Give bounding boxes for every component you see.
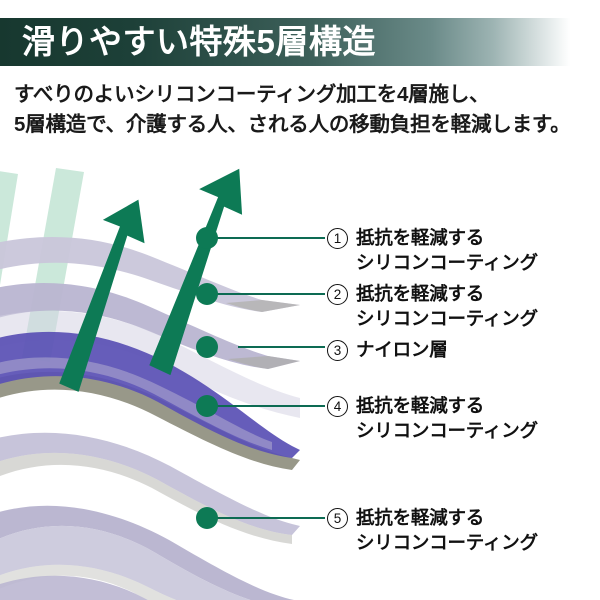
legend-label-2: 抵抗を軽減する シリコンコーティング (356, 281, 538, 331)
infographic-page: 滑りやすい特殊5層構造 すべりのよいシリコンコーティング加工を4層施し、 5層構… (0, 0, 600, 600)
legend-label-3-line-1: ナイロン層 (356, 337, 448, 362)
legend-number-4: 4 (327, 396, 348, 417)
legend-item-2: 2 抵抗を軽減する シリコンコーティング (327, 281, 538, 331)
legend-label-5: 抵抗を軽減する シリコンコーティング (356, 505, 538, 555)
legend-label-5-line-2: シリコンコーティング (356, 530, 538, 555)
legend-label-4-line-2: シリコンコーティング (356, 418, 538, 443)
legend-number-5: 5 (327, 508, 348, 529)
legend-number-2: 2 (327, 284, 348, 305)
legend-label-3: ナイロン層 (356, 337, 448, 362)
legend-item-4: 4 抵抗を軽減する シリコンコーティング (327, 393, 538, 443)
legend-label-2-line-2: シリコンコーティング (356, 306, 538, 331)
legend-label-1-line-1: 抵抗を軽減する (356, 225, 538, 250)
legend-item-1: 1 抵抗を軽減する シリコンコーティング (327, 225, 538, 275)
legend-item-5: 5 抵抗を軽減する シリコンコーティング (327, 505, 538, 555)
legend-label-4: 抵抗を軽減する シリコンコーティング (356, 393, 538, 443)
legend-label-1-line-2: シリコンコーティング (356, 250, 538, 275)
legend: 1 抵抗を軽減する シリコンコーティング 2 抵抗を軽減する シリコンコーティン… (0, 0, 600, 600)
legend-label-2-line-1: 抵抗を軽減する (356, 281, 538, 306)
legend-number-3: 3 (327, 340, 348, 361)
legend-number-1: 1 (327, 228, 348, 249)
legend-label-1: 抵抗を軽減する シリコンコーティング (356, 225, 538, 275)
legend-label-5-line-1: 抵抗を軽減する (356, 505, 538, 530)
legend-item-3: 3 ナイロン層 (327, 337, 448, 362)
legend-label-4-line-1: 抵抗を軽減する (356, 393, 538, 418)
